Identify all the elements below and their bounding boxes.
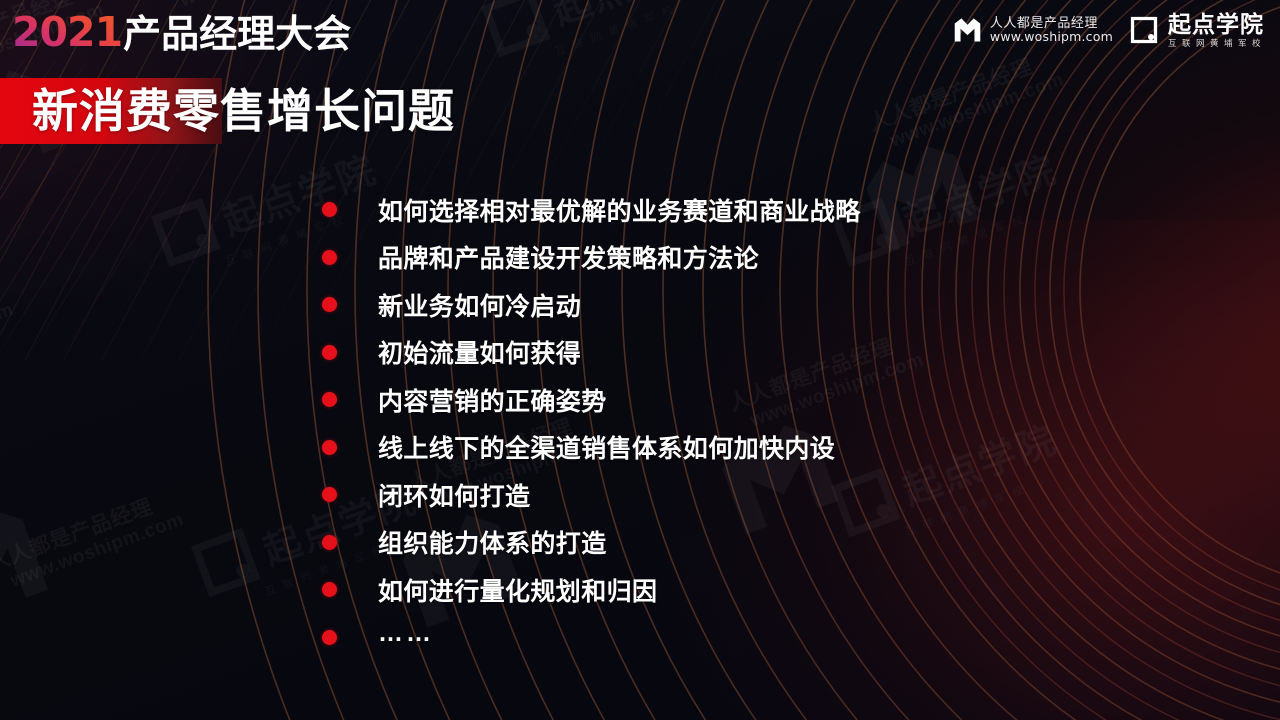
qidian-logo-sub: 互联网黄埔军校 [1168, 39, 1266, 48]
conference-title: 产品经理大会 [123, 16, 351, 54]
bullet-dot-icon [322, 297, 337, 312]
list-item-label: 如何进行量化规划和归因 [378, 572, 657, 608]
logo-group: 人人都是产品经理 www.woshipm.com 起点学院 互联网黄埔军校 [953, 12, 1266, 48]
list-item: 初始流量如何获得 [322, 329, 1222, 377]
bullet-dot-icon [322, 487, 337, 502]
woshipm-logo-text: 人人都是产品经理 www.woshipm.com [990, 16, 1113, 45]
qidian-square-logo-icon [1129, 15, 1159, 45]
list-item: 内容营销的正确姿势 [322, 376, 1222, 424]
woshipm-logo-cn: 人人都是产品经理 [990, 16, 1113, 31]
list-item: …… [322, 614, 1222, 662]
bullet-dot-icon [322, 440, 337, 455]
woshipm-logo-url: www.woshipm.com [990, 30, 1113, 44]
list-item-label: 组织能力体系的打造 [378, 524, 607, 560]
list-item-label: 品牌和产品建设开发策略和方法论 [378, 239, 759, 275]
conference-brand: 2021 产品经理大会 [12, 12, 351, 53]
bullet-dot-icon [322, 582, 337, 597]
woshipm-logo: 人人都是产品经理 www.woshipm.com [953, 16, 1113, 45]
bullet-dot-icon [322, 250, 337, 265]
woshipm-m-logo-icon [953, 16, 982, 45]
list-item-label: …… [378, 619, 434, 648]
conference-year: 2021 [12, 12, 123, 53]
list-item-label: 闭环如何打造 [378, 477, 530, 513]
qidian-logo-cn: 起点学院 [1168, 12, 1266, 36]
list-item-label: 线上线下的全渠道销售体系如何加快内设 [378, 429, 835, 465]
list-item: 组织能力体系的打造 [322, 519, 1222, 567]
qidian-logo-text: 起点学院 互联网黄埔军校 [1168, 12, 1266, 48]
bullet-dot-icon [322, 202, 337, 217]
qidian-logo: 起点学院 互联网黄埔军校 [1129, 12, 1266, 48]
list-item-label: 如何选择相对最优解的业务赛道和商业战略 [378, 192, 861, 228]
bullet-dot-icon [322, 392, 337, 407]
list-item: 如何进行量化规划和归因 [322, 566, 1222, 614]
bullet-dot-icon [322, 535, 337, 550]
list-item: 闭环如何打造 [322, 471, 1222, 519]
list-item-label: 新业务如何冷启动 [378, 287, 581, 323]
bullet-dot-icon [322, 630, 337, 645]
list-item: 线上线下的全渠道销售体系如何加快内设 [322, 424, 1222, 472]
slide-header: 2021 产品经理大会 人人都是产品经理 www.woshipm.com [0, 0, 1280, 64]
bullet-list: 如何选择相对最优解的业务赛道和商业战略 品牌和产品建设开发策略和方法论 新业务如… [322, 186, 1222, 661]
list-item-label: 初始流量如何获得 [378, 334, 581, 370]
slide-root: 人人都是产品经理 www.woshipm.com 人人都是产品经理 www.wo… [0, 0, 1280, 720]
list-item-label: 内容营销的正确姿势 [378, 382, 607, 418]
page-title: 新消费零售增长问题 [32, 82, 455, 140]
list-item: 品牌和产品建设开发策略和方法论 [322, 234, 1222, 282]
list-item: 如何选择相对最优解的业务赛道和商业战略 [322, 186, 1222, 234]
bullet-dot-icon [322, 345, 337, 360]
list-item: 新业务如何冷启动 [322, 281, 1222, 329]
